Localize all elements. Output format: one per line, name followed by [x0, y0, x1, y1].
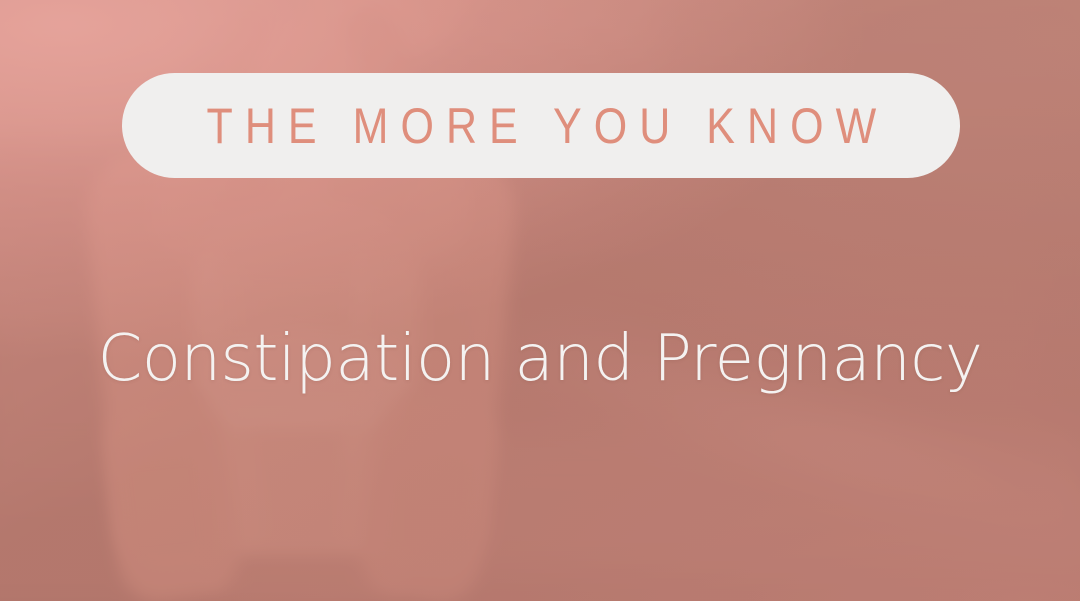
hero-banner: THE MORE YOU KNOW Constipation and Pregn… — [0, 0, 1080, 601]
badge-label: THE MORE YOU KNOW — [194, 101, 888, 151]
badge-pill: THE MORE YOU KNOW — [122, 73, 960, 178]
page-title: Constipation and Pregnancy — [0, 326, 1080, 393]
